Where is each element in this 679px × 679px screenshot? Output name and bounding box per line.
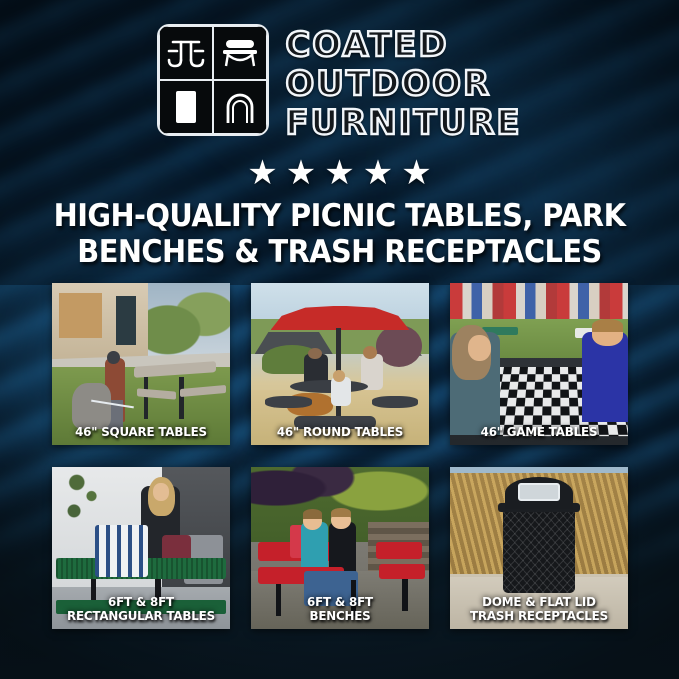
tile-caption: 46" SQUARE TABLES [56,425,225,439]
star-icon: ★ [247,156,277,190]
product-category-grid: 46" SQUARE TABLES 46" ROUND TABLES [52,283,628,629]
wordmark-line-3: FURNITURE [285,104,521,142]
star-icon: ★ [324,156,354,190]
wordmark-line-2: OUTDOOR [285,65,521,103]
park-bench-icon [213,26,267,80]
wordmark-line-1: COATED [285,26,521,64]
category-tile-square-tables[interactable]: 46" SQUARE TABLES [52,283,230,445]
category-tile-game-tables[interactable]: 46" GAME TABLES [450,283,628,445]
product-banner: COATED OUTDOOR FURNITURE ★ ★ ★ ★ ★ HIGH-… [0,0,679,679]
trash-can-icon [159,80,213,134]
logo-icon-grid [157,24,269,136]
square-tables-photo [52,283,230,445]
category-tile-round-tables[interactable]: 46" ROUND TABLES [251,283,429,445]
tile-caption: DOME & FLAT LID TRASH RECEPTACLES [454,595,623,623]
picnic-table-icon [159,26,213,80]
tile-caption: 6FT & 8FT RECTANGULAR TABLES [56,595,225,623]
tile-caption: 46" ROUND TABLES [255,425,424,439]
star-icon: ★ [363,156,393,190]
page-title: HIGH-QUALITY PICNIC TABLES, PARK BENCHES… [0,198,679,270]
headline-line-1: HIGH-QUALITY PICNIC TABLES, PARK [50,198,629,234]
star-rating: ★ ★ ★ ★ ★ [0,156,679,190]
game-tables-photo [450,283,628,445]
round-tables-photo [251,283,429,445]
dome-lid-icon [213,80,267,134]
category-tile-benches[interactable]: 6FT & 8FT BENCHES [251,467,429,629]
tile-caption: 6FT & 8FT BENCHES [255,595,424,623]
headline-line-2: BENCHES & TRASH RECEPTACLES [50,234,629,270]
brand-wordmark: COATED OUTDOOR FURNITURE [285,24,521,142]
brand-logo: COATED OUTDOOR FURNITURE [0,24,679,142]
tile-caption: 46" GAME TABLES [454,425,623,439]
star-icon: ★ [286,156,316,190]
star-icon: ★ [401,156,431,190]
category-tile-trash-receptacles[interactable]: DOME & FLAT LID TRASH RECEPTACLES [450,467,628,629]
category-tile-rectangular-tables[interactable]: 6FT & 8FT RECTANGULAR TABLES [52,467,230,629]
